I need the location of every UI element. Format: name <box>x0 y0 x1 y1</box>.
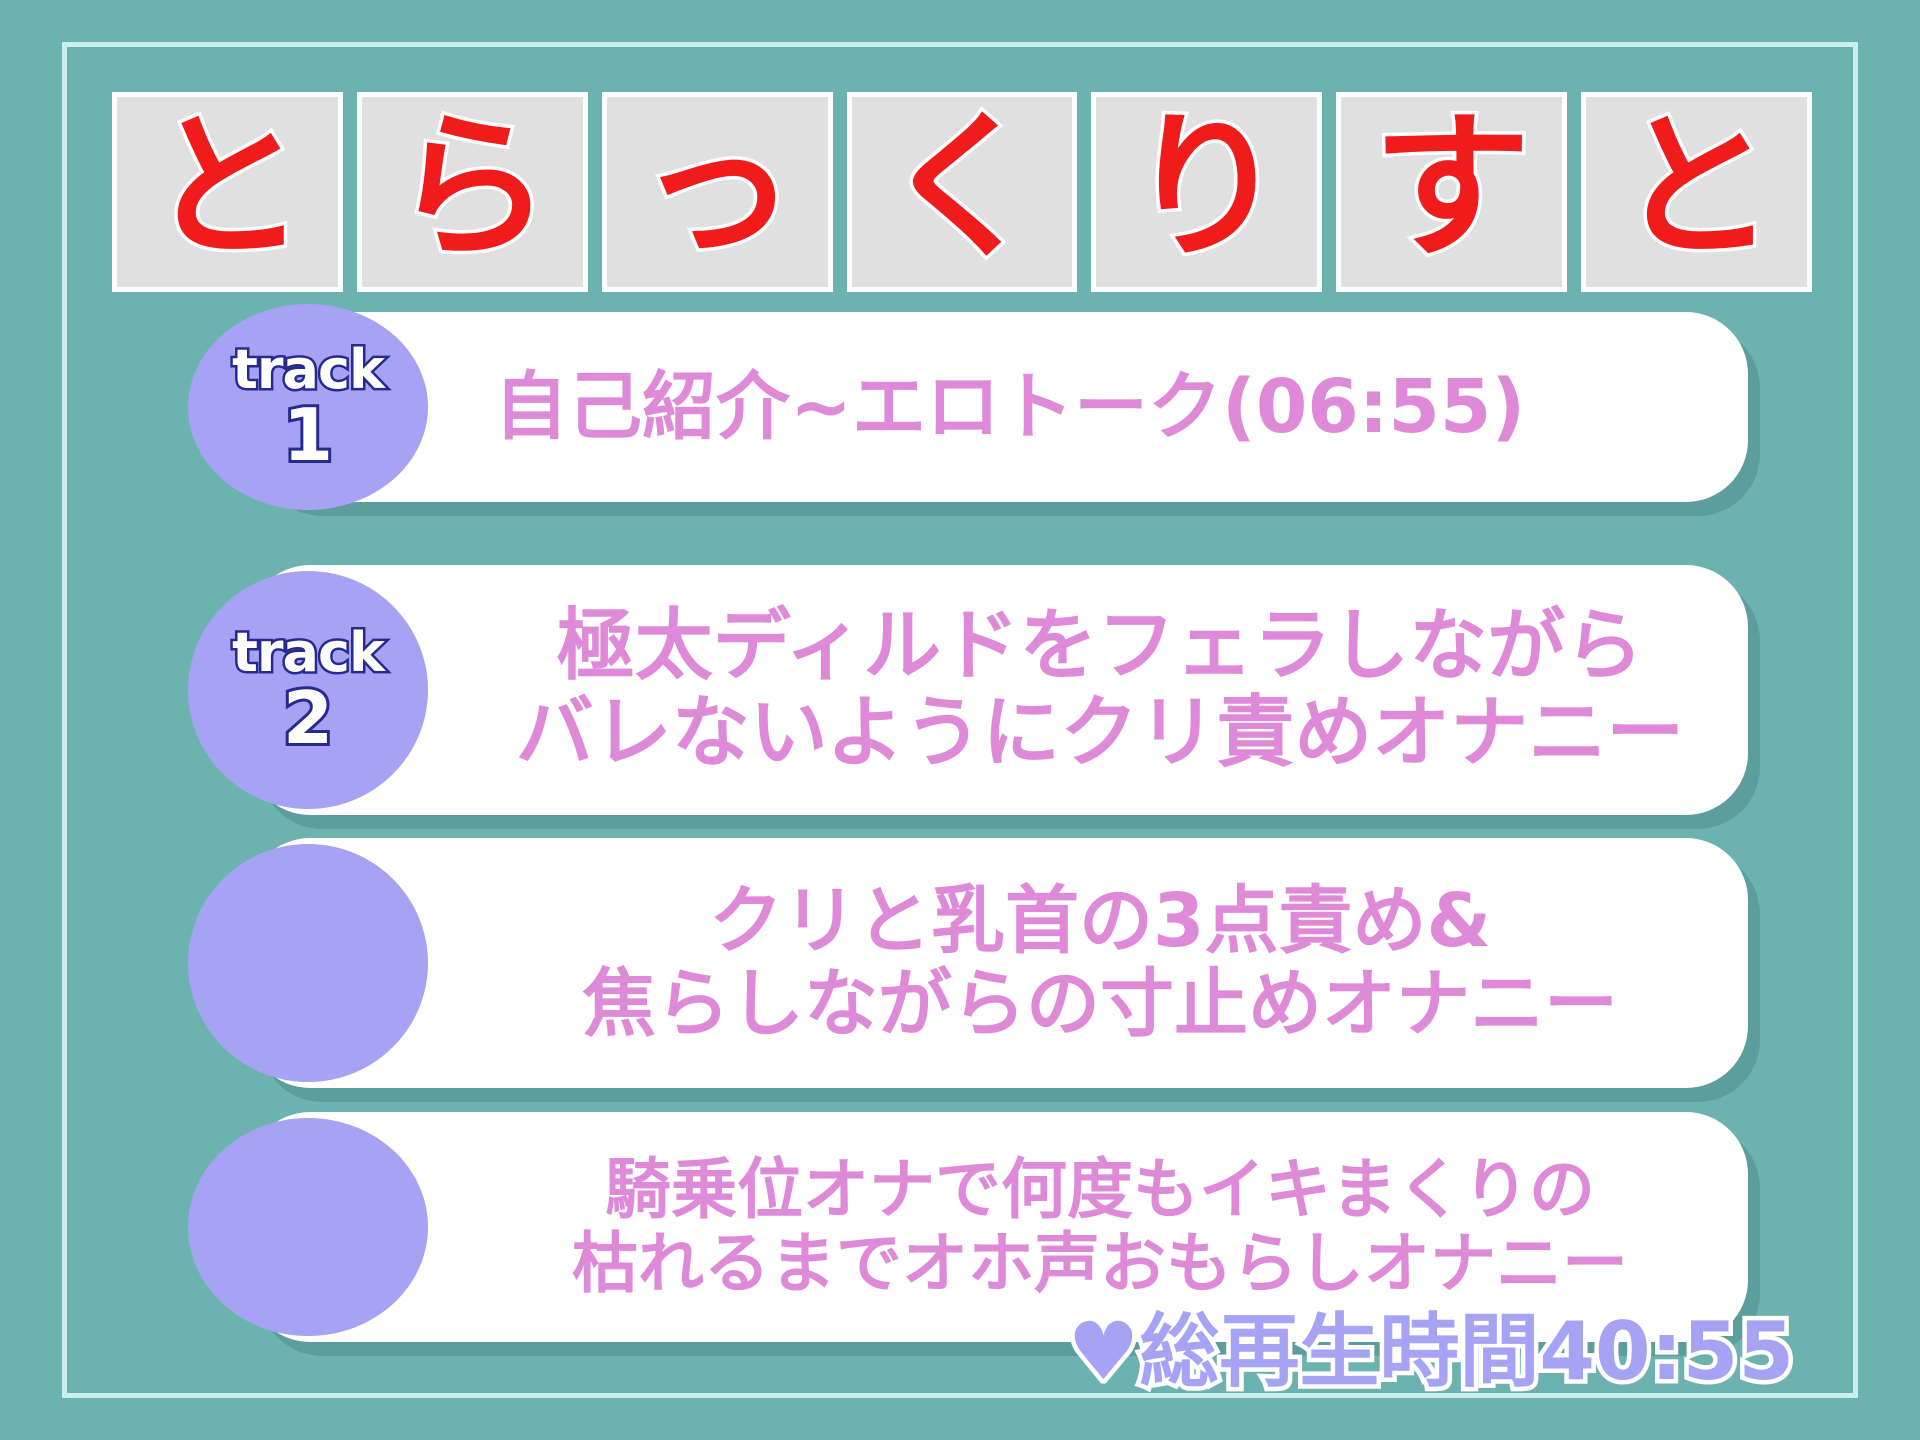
track-title-line: 焦らしながらの寸止めオナニー <box>500 963 1700 1046</box>
title-tile-3: っ <box>602 92 833 292</box>
track-badge-1: track 1 <box>188 304 428 510</box>
track-title-line: 騎乗位オナで何度もイキまくりの <box>500 1153 1700 1227</box>
track-title-4: 騎乗位オナで何度もイキまくりの 枯れるまでオホ声おもらしオナニー <box>500 1153 1700 1301</box>
total-playtime-label: ♥総再生時間40:55 <box>1068 1312 1794 1392</box>
title-char: く <box>883 109 1041 267</box>
title-char: と <box>148 109 306 267</box>
title-tile-2: ら <box>357 92 588 292</box>
track-badge-label: track <box>232 343 384 397</box>
title-tile-5: り <box>1091 92 1322 292</box>
track-title-line: 極太ディルドをフェラしながら <box>500 603 1700 690</box>
title-char: す <box>1373 109 1531 267</box>
track-badge-4 <box>188 1118 428 1336</box>
track-list-item: track 1 自己紹介~エロトーク(06:55) <box>248 312 1748 502</box>
title-tile-4: く <box>847 92 1078 292</box>
track-title-2: 極太ディルドをフェラしながら バレないようにクリ責めオナニー <box>500 603 1700 778</box>
track-title-line: バレないようにクリ責めオナニー <box>500 690 1700 777</box>
title-tile-1: と <box>112 92 343 292</box>
track-list-item: track 2 極太ディルドをフェラしながら バレないようにクリ責めオナニー <box>248 565 1748 815</box>
title-tile-7: と <box>1581 92 1812 292</box>
title-char: ら <box>393 109 551 267</box>
title-char: と <box>1618 109 1776 267</box>
track-title-line: クリと乳首の3点責め& <box>500 880 1700 963</box>
track-title-line: 枯れるまでオホ声おもらしオナニー <box>500 1227 1700 1301</box>
track-badge-3 <box>188 844 428 1082</box>
track-badge-2: track 2 <box>188 571 428 809</box>
track-title-1: 自己紹介~エロトーク(06:55) <box>494 366 1694 449</box>
track-title-3: クリと乳首の3点責め& 焦らしながらの寸止めオナニー <box>500 880 1700 1046</box>
title-tile-6: す <box>1336 92 1567 292</box>
track-badge-number: 1 <box>283 399 333 471</box>
track-badge-label: track <box>232 626 384 680</box>
page-title: と ら っ く り す と <box>112 92 1812 292</box>
title-char: り <box>1128 109 1286 267</box>
track-badge-number: 2 <box>283 682 333 754</box>
title-char: っ <box>638 109 796 267</box>
track-title-line: 自己紹介~エロトーク(06:55) <box>494 366 1694 449</box>
track-list-item: クリと乳首の3点責め& 焦らしながらの寸止めオナニー <box>248 838 1748 1088</box>
